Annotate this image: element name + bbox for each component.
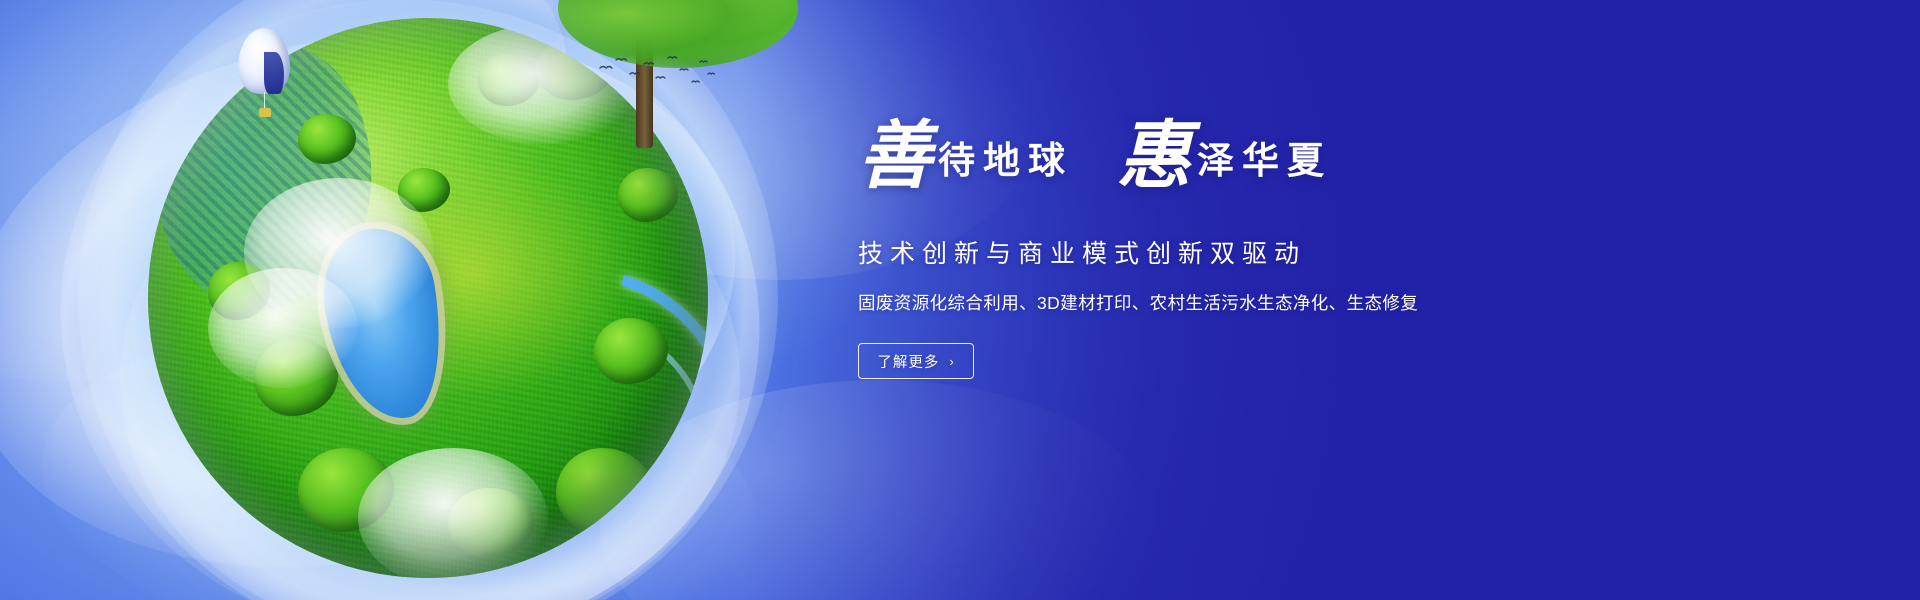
description-text: 固废资源化综合利用、3D建材打印、农村生活污水生态净化、生态修复 — [858, 290, 1558, 315]
headline-rest-2: 泽华夏 — [1197, 130, 1332, 184]
learn-more-label: 了解更多 — [877, 351, 939, 372]
hero-content: 善待地球惠泽华夏 技术创新与商业模式创新双驱动 固废资源化综合利用、3D建材打印… — [858, 120, 1558, 379]
page-title: 善待地球惠泽华夏 — [858, 120, 1558, 216]
learn-more-button[interactable]: 了解更多 › — [858, 343, 974, 379]
headline-rest-1: 待地球 — [938, 130, 1073, 184]
hot-air-balloon — [238, 28, 290, 124]
headline-lead-char-2: 惠 — [1117, 120, 1189, 194]
chevron-right-icon: › — [949, 354, 954, 369]
hero-banner: 善待地球惠泽华夏 技术创新与商业模式创新双驱动 固废资源化综合利用、3D建材打印… — [0, 0, 1920, 600]
balloon-basket — [259, 108, 271, 117]
subtitle: 技术创新与商业模式创新双驱动 — [858, 234, 1558, 270]
flock-of-birds-icon — [596, 52, 716, 92]
balloon-stripe — [264, 52, 284, 94]
globe-illustration — [148, 18, 708, 578]
headline-lead-char-1: 善 — [858, 120, 930, 194]
